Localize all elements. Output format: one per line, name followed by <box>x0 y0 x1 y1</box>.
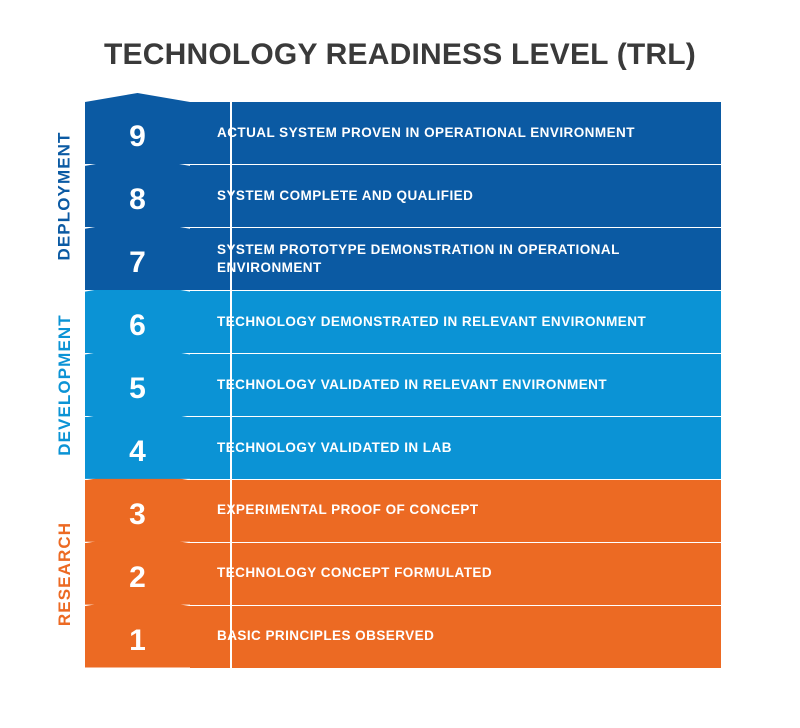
trl-level-row[interactable]: TECHNOLOGY CONCEPT FORMULATED2 <box>85 542 721 604</box>
trl-level-row[interactable]: SYSTEM PROTOTYPE DEMONSTRATION IN OPERAT… <box>85 228 721 290</box>
trl-level-number-cell: 9 <box>85 93 190 164</box>
trl-description-label: BASIC PRINCIPLES OBSERVED <box>217 627 434 645</box>
trl-level-number-cell: 8 <box>85 156 190 227</box>
trl-level-row[interactable]: TECHNOLOGY DEMONSTRATED IN RELEVANT ENVI… <box>85 291 721 353</box>
trl-level-number: 4 <box>129 437 146 467</box>
trl-level-number-cell: 2 <box>85 533 190 604</box>
trl-description-cell: TECHNOLOGY DEMONSTRATED IN RELEVANT ENVI… <box>190 291 721 353</box>
trl-level-number: 7 <box>129 248 146 278</box>
category-label-text: RESEARCH <box>55 522 75 626</box>
trl-description-cell: SYSTEM COMPLETE AND QUALIFIED <box>190 165 721 227</box>
trl-level-number: 9 <box>129 122 146 152</box>
category-label-text: DEVELOPMENT <box>55 314 75 456</box>
category-label-text: DEPLOYMENT <box>55 132 75 261</box>
trl-level-number-cell: 6 <box>85 282 190 353</box>
trl-description-cell: TECHNOLOGY CONCEPT FORMULATED <box>190 542 721 604</box>
trl-description-label: EXPERIMENTAL PROOF OF CONCEPT <box>217 501 479 519</box>
trl-level-number-cell: 7 <box>85 219 190 290</box>
trl-level-number: 8 <box>129 185 146 215</box>
trl-description-cell: BASIC PRINCIPLES OBSERVED <box>190 605 721 667</box>
trl-description-label: TECHNOLOGY DEMONSTRATED IN RELEVANT ENVI… <box>217 313 646 331</box>
trl-description-label: SYSTEM COMPLETE AND QUALIFIED <box>217 187 473 205</box>
trl-diagram: DEPLOYMENTDEVELOPMENTRESEARCH BASIC PRIN… <box>45 102 721 668</box>
trl-level-row[interactable]: SYSTEM COMPLETE AND QUALIFIED8 <box>85 165 721 227</box>
trl-description-label: TECHNOLOGY CONCEPT FORMULATED <box>217 564 492 582</box>
trl-level-row[interactable]: BASIC PRINCIPLES OBSERVED1 <box>85 605 721 667</box>
trl-level-stack: BASIC PRINCIPLES OBSERVED1TECHNOLOGY CON… <box>85 102 721 668</box>
trl-level-row[interactable]: ACTUAL SYSTEM PROVEN IN OPERATIONAL ENVI… <box>85 102 721 164</box>
trl-level-number-cell: 4 <box>85 407 190 478</box>
trl-description-label: SYSTEM PROTOTYPE DEMONSTRATION IN OPERAT… <box>217 241 705 277</box>
trl-description-label: TECHNOLOGY VALIDATED IN LAB <box>217 439 452 457</box>
trl-description-cell: ACTUAL SYSTEM PROVEN IN OPERATIONAL ENVI… <box>190 102 721 164</box>
trl-level-number: 3 <box>129 500 146 530</box>
trl-level-number-cell: 1 <box>85 596 190 667</box>
trl-description-cell: TECHNOLOGY VALIDATED IN LAB <box>190 416 721 478</box>
page-title: TECHNOLOGY READINESS LEVEL (TRL) <box>0 38 800 72</box>
trl-level-number: 1 <box>129 626 146 656</box>
trl-level-number-cell: 3 <box>85 470 190 541</box>
category-rail: DEPLOYMENTDEVELOPMENTRESEARCH <box>45 102 85 668</box>
trl-level-number: 6 <box>129 311 146 341</box>
trl-level-row[interactable]: TECHNOLOGY VALIDATED IN LAB4 <box>85 416 721 478</box>
trl-level-number-cell: 5 <box>85 345 190 416</box>
trl-level-number: 2 <box>129 563 146 593</box>
trl-description-label: ACTUAL SYSTEM PROVEN IN OPERATIONAL ENVI… <box>217 124 635 142</box>
category-label-development: DEVELOPMENT <box>45 291 85 480</box>
trl-description-cell: TECHNOLOGY VALIDATED IN RELEVANT ENVIRON… <box>190 354 721 416</box>
trl-description-cell: EXPERIMENTAL PROOF OF CONCEPT <box>190 479 721 541</box>
category-label-deployment: DEPLOYMENT <box>45 102 85 291</box>
trl-level-row[interactable]: EXPERIMENTAL PROOF OF CONCEPT3 <box>85 479 721 541</box>
trl-description-label: TECHNOLOGY VALIDATED IN RELEVANT ENVIRON… <box>217 376 607 394</box>
trl-description-cell: SYSTEM PROTOTYPE DEMONSTRATION IN OPERAT… <box>190 228 721 290</box>
category-label-research: RESEARCH <box>45 479 85 668</box>
column-divider <box>230 102 232 668</box>
trl-level-number: 5 <box>129 374 146 404</box>
trl-level-row[interactable]: TECHNOLOGY VALIDATED IN RELEVANT ENVIRON… <box>85 354 721 416</box>
